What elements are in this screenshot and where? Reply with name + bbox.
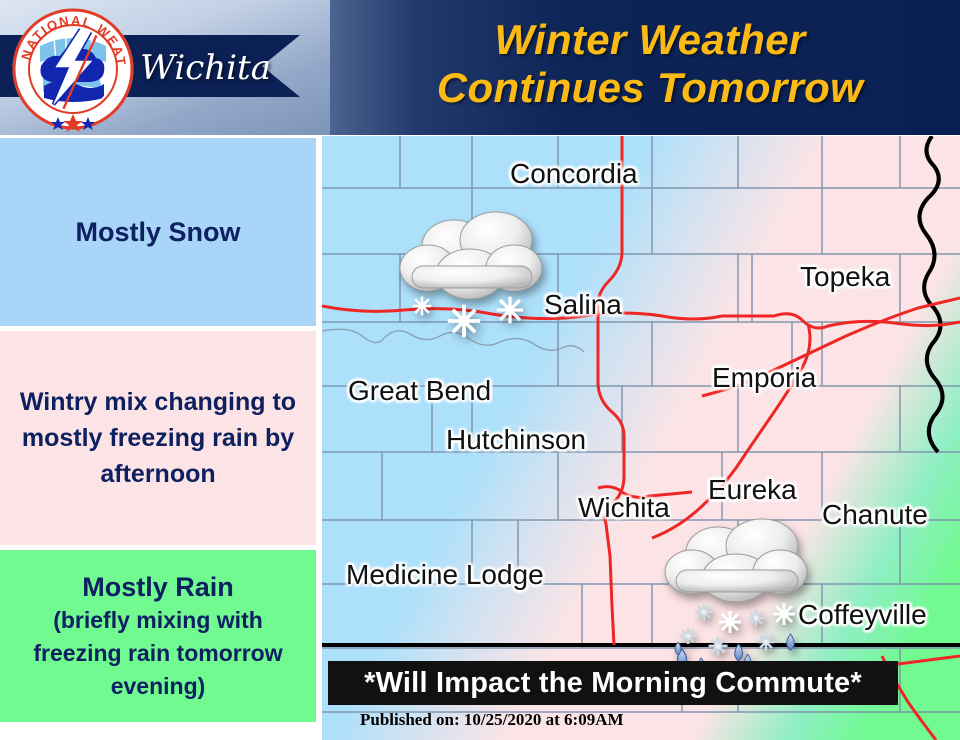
title-line-1: Winter Weather	[350, 16, 950, 64]
city-label-great-bend: Great Bend	[348, 375, 491, 407]
legend-label-mostly-snow: Mostly Snow	[75, 217, 240, 248]
city-label-eureka: Eureka	[708, 474, 797, 506]
city-label-concordia: Concordia	[510, 158, 638, 190]
city-label-medicine-lodge: Medicine Lodge	[346, 559, 544, 591]
city-label-emporia: Emporia	[712, 362, 816, 394]
impact-banner: *Will Impact the Morning Commute*	[328, 661, 898, 705]
legend-panel-wintry-mix: Wintry mix changing to mostly freezing r…	[0, 331, 316, 545]
legend-panel-mostly-rain: Mostly Rain (briefly mixing with freezin…	[0, 550, 316, 722]
page-title: Winter Weather Continues Tomorrow	[350, 16, 950, 112]
weather-graphic: NATIONAL WEATHER SERVICE	[0, 0, 960, 740]
legend-sublabel-mostly-rain: (briefly mixing with freezing rain tomor…	[8, 604, 308, 703]
office-name: Wichita	[140, 40, 310, 96]
nws-seal-icon: NATIONAL WEATHER SERVICE	[10, 6, 136, 132]
title-line-2: Continues Tomorrow	[350, 64, 950, 112]
state-line-missouri	[919, 136, 942, 452]
legend-label-mostly-rain: Mostly Rain	[82, 570, 234, 604]
legend-label-wintry-mix: Wintry mix changing to mostly freezing r…	[8, 384, 308, 492]
city-label-topeka: Topeka	[800, 261, 890, 293]
published-timestamp: Published on: 10/25/2020 at 6:09AM	[360, 710, 624, 730]
header-banner: NATIONAL WEATHER SERVICE	[0, 0, 960, 135]
city-label-wichita: Wichita	[578, 492, 670, 524]
precipitation-type-map: Concordia Salina Topeka Great Bend Empor…	[322, 136, 960, 740]
legend-panel-mostly-snow: Mostly Snow	[0, 138, 316, 326]
city-label-hutchinson: Hutchinson	[446, 424, 586, 456]
